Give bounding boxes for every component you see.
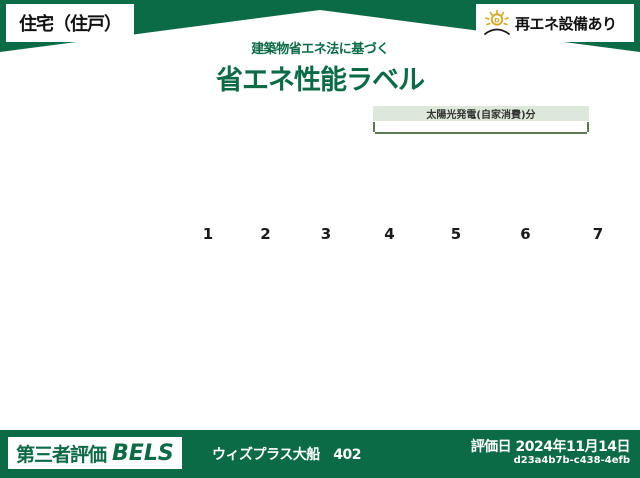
property-name: ウィズプラス大船 402 <box>212 444 361 464</box>
insulation-level-number: 7 <box>593 225 603 247</box>
evaluation-id: d23a4b7b-c438-4efb <box>514 455 630 466</box>
bels-badge: 第三者評価 BELS <box>8 437 182 469</box>
bels-logo-text: BELS <box>112 441 174 466</box>
building-type-badge-label: 住宅（住戸） <box>19 10 121 36</box>
label-footer: 第三者評価 BELS ウィズプラス大船 402 評価日 2024年11月14日 … <box>0 430 640 478</box>
label-title: 建築物省エネ法に基づく 省エネ性能ラベル <box>0 38 640 97</box>
sun-icon: D <box>482 9 512 37</box>
insulation-level-number: 1 <box>203 225 213 247</box>
svg-text:D: D <box>494 17 500 25</box>
insulation-level-number: 5 <box>451 225 461 247</box>
label-title-main: 省エネ性能ラベル <box>0 58 640 97</box>
insulation-level-number: 3 <box>321 225 331 247</box>
energy-performance-label: 住宅（住戸） D 再エネ設備あり 建築物省エネ法に基づ <box>0 0 640 478</box>
building-type-badge: 住宅（住戸） <box>6 4 134 42</box>
renewable-equipment-label: 再エネ設備あり <box>515 13 617 34</box>
insulation-level-number: 6 <box>520 225 530 247</box>
insulation-level-number: 4 <box>384 225 394 247</box>
renewable-equipment-badge: D 再エネ設備あり <box>476 4 634 42</box>
third-party-evaluation-label: 第三者評価 <box>16 440 106 467</box>
evaluation-date: 評価日 2024年11月14日 <box>471 436 630 456</box>
insulation-level-number: 2 <box>260 225 270 247</box>
